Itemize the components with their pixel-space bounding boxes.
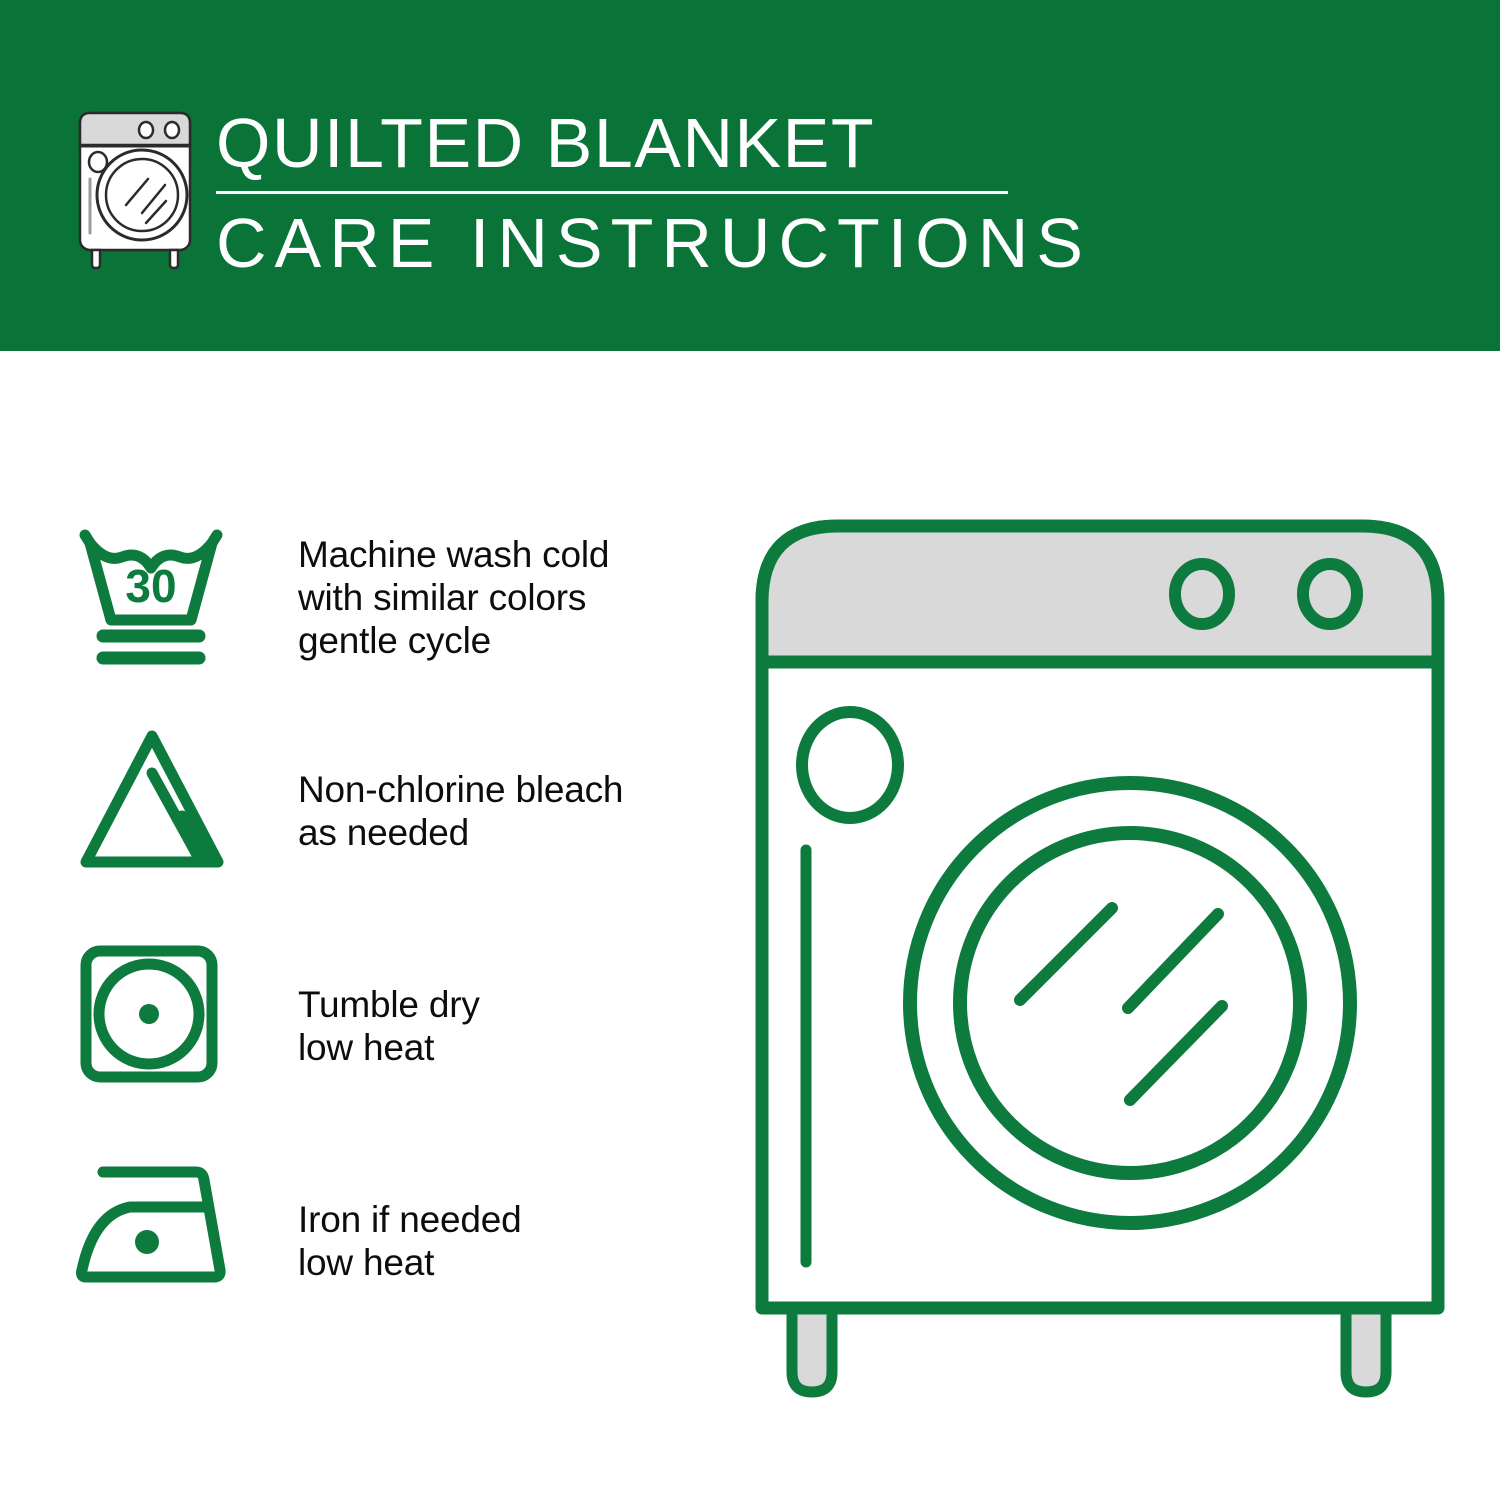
page-title: QUILTED BLANKET [216,104,1016,182]
detergent-indicator [802,712,898,818]
washing-machine-icon [62,105,212,270]
care-text-line: Tumble dry [298,983,480,1026]
care-text-line: Iron if needed [298,1198,521,1241]
care-text-line: low heat [298,1241,521,1284]
care-text-line: as needed [298,811,623,854]
header-banner: QUILTED BLANKET CARE INSTRUCTIONS [0,0,1500,351]
care-instruction-item: 30 Machine wash cold with similar colors… [70,505,710,720]
care-text-line: low heat [298,1026,480,1069]
machine-leg [792,1302,1386,1392]
care-text-line: gentle cycle [298,619,609,662]
care-instruction-text: Machine wash cold with similar colors ge… [298,533,609,662]
iron-low-heat-icon [70,1150,245,1325]
control-knob [1175,564,1229,624]
care-instruction-item: Non-chlorine bleach as needed [70,720,710,935]
care-instruction-text: Non-chlorine bleach as needed [298,768,623,854]
front-load-washing-machine-illustration [740,490,1460,1430]
non-chlorine-bleach-triangle-icon [70,720,245,895]
wash-tub-30-gentle-icon: 30 [70,505,245,680]
care-instruction-text: Tumble dry low heat [298,983,480,1069]
care-instruction-list: 30 Machine wash cold with similar colors… [70,505,710,1365]
care-instruction-item: Tumble dry low heat [70,935,710,1150]
header-title-block: QUILTED BLANKET CARE INSTRUCTIONS [216,104,1016,283]
title-divider [216,191,1008,194]
page-subtitle: CARE INSTRUCTIONS [216,203,1016,283]
tumble-dry-low-icon [70,935,245,1110]
care-instruction-text: Iron if needed low heat [298,1198,521,1284]
wash-temperature-value: 30 [125,560,176,612]
control-knob [1303,564,1357,624]
care-instruction-item: Iron if needed low heat [70,1150,710,1365]
care-text-line: Machine wash cold [298,533,609,576]
care-text-line: Non-chlorine bleach [298,768,623,811]
care-text-line: with similar colors [298,576,609,619]
